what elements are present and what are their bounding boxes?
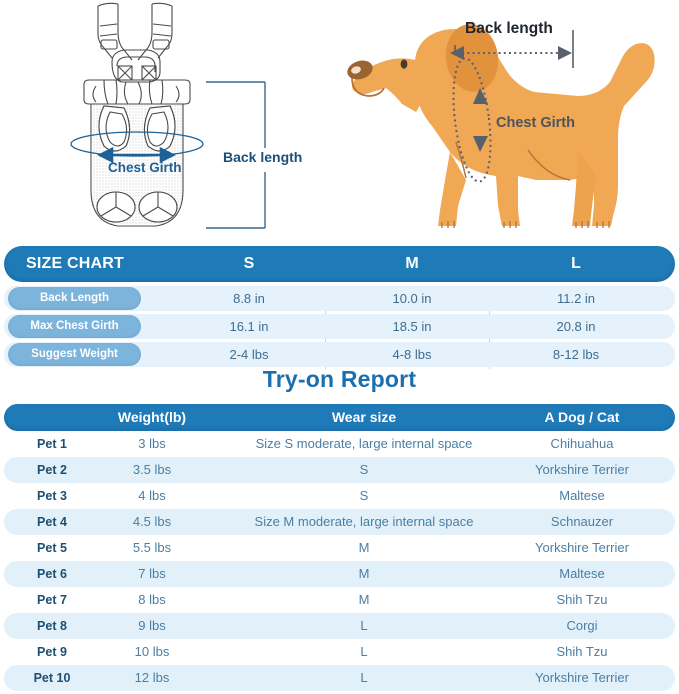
size-chart-row-max-chest-girth: Max Chest Girth 16.1 in 18.5 in 20.8 in — [4, 314, 675, 339]
tryon-cell-breed: Corgi — [566, 613, 597, 639]
size-chart-row-back-length: Back Length 8.8 in 10.0 in 11.2 in — [4, 286, 675, 311]
size-chart-value-suggest-weight-m: 4-8 lbs — [392, 342, 431, 367]
size-chart-label-max-chest-girth: Max Chest Girth — [8, 315, 141, 338]
tryon-cell-pet: Pet 5 — [37, 535, 67, 561]
tryon-cell-wear: S — [360, 457, 369, 483]
tryon-table-row: Pet 89 lbsLCorgi — [4, 613, 675, 639]
tryon-table-row: Pet 67 lbsMMaltese — [4, 561, 675, 587]
tryon-table-row: Pet 34 lbsSMaltese — [4, 483, 675, 509]
tryon-cell-weight: 9 lbs — [138, 613, 165, 639]
tryon-cell-pet: Pet 2 — [37, 457, 67, 483]
tryon-cell-wear: S — [360, 483, 369, 509]
size-chart-title: SIZE CHART — [26, 246, 124, 282]
size-chart-body: Back Length 8.8 in 10.0 in 11.2 in Max C… — [0, 286, 679, 367]
tryon-cell-breed: Yorkshire Terrier — [535, 535, 629, 561]
pet-carrier-diagram — [60, 0, 320, 240]
tryon-report-table: Weight(lb) Wear size A Dog / Cat Pet 13 … — [0, 404, 679, 691]
tryon-table-row: Pet 55.5 lbsMYorkshire Terrier — [4, 535, 675, 561]
size-chart-value-max-chest-girth-s: 16.1 in — [229, 314, 268, 339]
tryon-col-weight: Weight(lb) — [118, 404, 186, 431]
tryon-table-row: Pet 13 lbsSize S moderate, large interna… — [4, 431, 675, 457]
tryon-table-row: Pet 44.5 lbsSize M moderate, large inter… — [4, 509, 675, 535]
carrier-back-length-label: Back length — [223, 149, 302, 165]
tryon-table-row: Pet 23.5 lbsSYorkshire Terrier — [4, 457, 675, 483]
tryon-table-row: Pet 78 lbsMShih Tzu — [4, 587, 675, 613]
tryon-cell-breed: Yorkshire Terrier — [535, 665, 629, 691]
tryon-cell-pet: Pet 8 — [37, 613, 67, 639]
illustration-panel: Chest Girth Back length — [0, 0, 679, 240]
tryon-cell-pet: Pet 7 — [37, 587, 67, 613]
tryon-cell-breed: Maltese — [559, 561, 605, 587]
size-chart-col-s: S — [244, 246, 255, 282]
tryon-cell-breed: Maltese — [559, 483, 605, 509]
tryon-table-row: Pet 910 lbsLShih Tzu — [4, 639, 675, 665]
size-chart-header-row: SIZE CHART S M L — [4, 246, 675, 282]
tryon-cell-weight: 5.5 lbs — [133, 535, 171, 561]
size-chart-value-suggest-weight-s: 2-4 lbs — [229, 342, 268, 367]
tryon-cell-wear: L — [360, 665, 367, 691]
tryon-table-row: Pet 1012 lbsLYorkshire Terrier — [4, 665, 675, 691]
tryon-col-wear-size: Wear size — [332, 404, 396, 431]
dog-back-length-label: Back length — [465, 20, 553, 38]
tryon-cell-breed: Schnauzer — [551, 509, 613, 535]
size-chart-value-suggest-weight-l: 8-12 lbs — [553, 342, 599, 367]
size-chart-value-back-length-s: 8.8 in — [233, 286, 265, 311]
tryon-cell-weight: 12 lbs — [135, 665, 170, 691]
tryon-header-row: Weight(lb) Wear size A Dog / Cat — [4, 404, 675, 431]
tryon-report-title: Try-on Report — [0, 366, 679, 393]
tryon-col-breed: A Dog / Cat — [545, 404, 620, 431]
size-chart-label-back-length: Back Length — [8, 287, 141, 310]
tryon-cell-breed: Yorkshire Terrier — [535, 457, 629, 483]
tryon-cell-pet: Pet 9 — [37, 639, 67, 665]
size-chart-col-m: M — [405, 246, 418, 282]
size-chart-col-l: L — [571, 246, 581, 282]
tryon-cell-weight: 7 lbs — [138, 561, 165, 587]
tryon-cell-pet: Pet 6 — [37, 561, 67, 587]
tryon-cell-weight: 8 lbs — [138, 587, 165, 613]
tryon-cell-wear: M — [359, 561, 370, 587]
size-chart-value-max-chest-girth-l: 20.8 in — [556, 314, 595, 339]
tryon-cell-pet: Pet 4 — [37, 509, 67, 535]
size-chart-table: SIZE CHART S M L Back Length 8.8 in 10.0… — [0, 246, 679, 367]
size-chart-value-back-length-l: 11.2 in — [557, 286, 595, 311]
size-chart-value-back-length-m: 10.0 in — [392, 286, 431, 311]
tryon-cell-wear: M — [359, 587, 370, 613]
tryon-cell-wear: L — [360, 613, 367, 639]
tryon-cell-pet: Pet 1 — [37, 431, 67, 457]
tryon-cell-weight: 10 lbs — [135, 639, 170, 665]
tryon-cell-wear: Size M moderate, large internal space — [255, 509, 474, 535]
dog-chest-girth-label: Chest Girth — [496, 115, 575, 131]
tryon-cell-breed: Chihuahua — [551, 431, 614, 457]
tryon-cell-weight: 3 lbs — [138, 431, 165, 457]
tryon-report-body: Pet 13 lbsSize S moderate, large interna… — [0, 431, 679, 691]
tryon-cell-breed: Shih Tzu — [556, 587, 607, 613]
tryon-cell-pet: Pet 3 — [37, 483, 67, 509]
tryon-cell-breed: Shih Tzu — [556, 639, 607, 665]
tryon-cell-pet: Pet 10 — [34, 665, 71, 691]
carrier-chest-girth-label: Chest Girth — [108, 160, 182, 175]
tryon-cell-wear: M — [359, 535, 370, 561]
size-chart-label-suggest-weight: Suggest Weight — [8, 343, 141, 366]
tryon-cell-wear: Size S moderate, large internal space — [256, 431, 473, 457]
size-chart-value-max-chest-girth-m: 18.5 in — [392, 314, 431, 339]
size-chart-row-suggest-weight: Suggest Weight 2-4 lbs 4-8 lbs 8-12 lbs — [4, 342, 675, 367]
tryon-cell-weight: 4.5 lbs — [133, 509, 171, 535]
tryon-cell-weight: 4 lbs — [138, 483, 165, 509]
tryon-cell-weight: 3.5 lbs — [133, 457, 171, 483]
tryon-cell-wear: L — [360, 639, 367, 665]
